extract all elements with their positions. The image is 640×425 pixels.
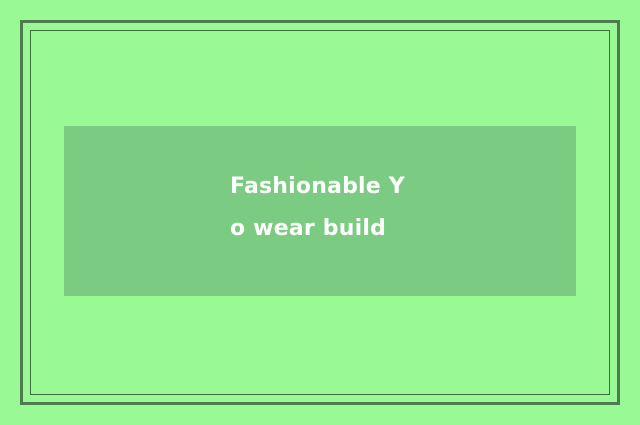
headline-text-block: Fashionable Y o wear build [230,166,560,250]
headline-line-2: o wear build [230,208,560,250]
content-panel: Fashionable Y o wear build [64,126,576,296]
headline-line-1: Fashionable Y [230,166,560,208]
slide-canvas: Fashionable Y o wear build [0,0,640,425]
